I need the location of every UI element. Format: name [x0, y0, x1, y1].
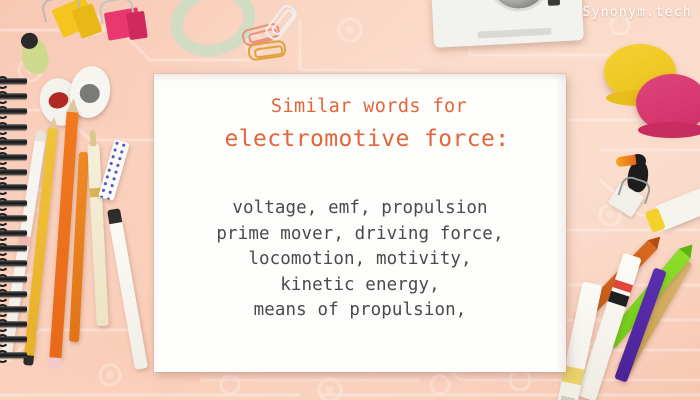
- stone-red-dot: [47, 90, 71, 111]
- camera: [430, 0, 584, 48]
- screenshot-stage: Similar words for electromotive force: v…: [0, 0, 700, 400]
- spiral-ring: [0, 230, 27, 236]
- title-line-2: electromotive force:: [168, 128, 566, 151]
- spiral-ring: [0, 124, 27, 130]
- synonym-line: voltage, emf, propulsion: [154, 196, 566, 222]
- spiral-ring: [0, 184, 27, 190]
- spiral-ring: [0, 215, 27, 221]
- title-line-1: Similar words for: [172, 98, 566, 117]
- synonym-line: prime mover, driving force,: [154, 222, 566, 248]
- spiral-ring: [0, 245, 27, 251]
- spiral-ring: [0, 352, 27, 358]
- spiral-ring: [0, 336, 27, 342]
- spiral-ring: [0, 260, 27, 266]
- camera-grip-strip: [477, 28, 551, 39]
- notepad-spiral-binding: [0, 78, 30, 374]
- spiral-ring: [0, 78, 27, 84]
- spiral-ring: [0, 154, 27, 160]
- synonym-line: means of propulsion,: [154, 298, 566, 324]
- stone-gray-dot: [78, 82, 101, 104]
- spiral-ring: [0, 321, 27, 327]
- binder-clip-pink-2: [126, 11, 148, 40]
- spiral-ring: [0, 139, 27, 145]
- spiral-ring: [0, 93, 27, 99]
- spiral-ring: [0, 306, 27, 312]
- spiral-ring: [0, 108, 27, 114]
- spiral-ring: [0, 291, 27, 297]
- notepad: Similar words for electromotive force: v…: [154, 74, 566, 372]
- synonym-list: voltage, emf, propulsion prime mover, dr…: [154, 196, 566, 324]
- camera-lens: [485, 0, 552, 13]
- camera-shutter-button: [547, 0, 560, 6]
- synonym-line: kinetic energy,: [154, 273, 566, 299]
- macaron-pink: [636, 74, 700, 132]
- synonym-line: locomotion, motivity,: [154, 247, 566, 273]
- notepad-content: Similar words for electromotive force: v…: [154, 74, 566, 372]
- spiral-ring: [0, 169, 27, 175]
- brand-watermark: Synonym.tech: [582, 5, 692, 20]
- spiral-ring: [0, 200, 27, 206]
- spiral-ring: [0, 276, 27, 282]
- page-title: Similar words for electromotive force:: [154, 98, 566, 151]
